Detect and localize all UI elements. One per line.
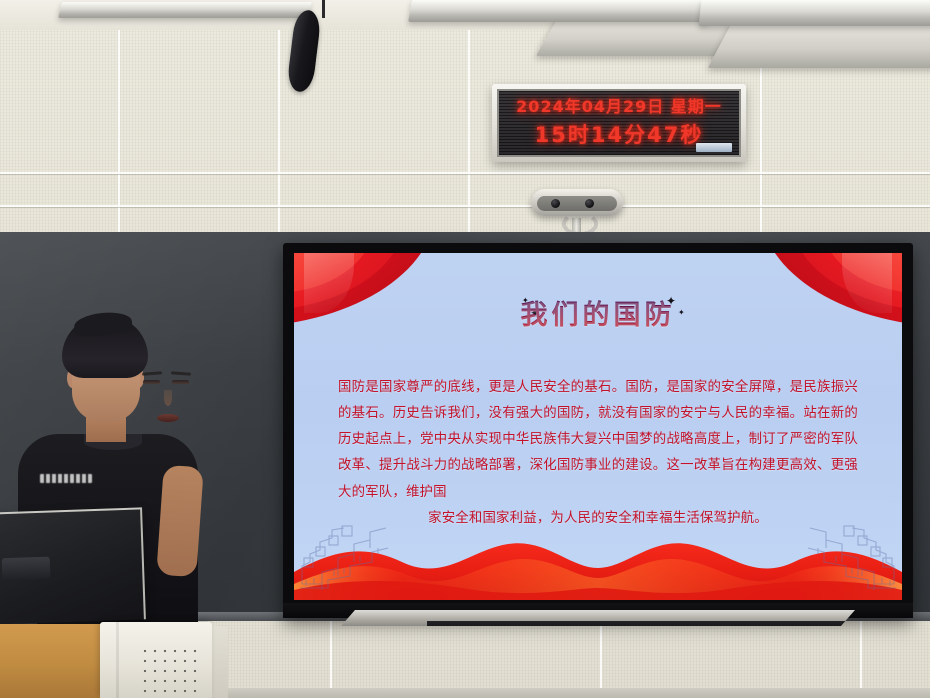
podium-edge-seam: [116, 622, 119, 698]
presenter-eye: [143, 380, 160, 384]
ceiling-light-fixture: [58, 2, 312, 18]
clock-brand-label: [696, 143, 732, 152]
tshirt-chest-logo: [40, 474, 92, 483]
slide-body-main: 国防是国家尊严的底线，更是人民安全的基石。国防，是国家的安全屏障，是民族振兴的基…: [338, 380, 858, 500]
led-clock-panel: 2024年04月29日 星期一 15时14分47秒: [497, 89, 741, 157]
presenter-eyebrow: [171, 371, 191, 375]
great-wall-line-art-left: [298, 514, 390, 592]
slide-screen[interactable]: ✦ ✦ ✦ ✦ 我们的国防 国防是国家尊严的底线，更是人民安全的基石。国防，是国…: [294, 253, 902, 600]
great-wall-line-art-right: [806, 514, 898, 592]
speaker-grille: [140, 646, 198, 696]
dual-lens-camera: [531, 189, 623, 216]
wooden-desk-panel: [0, 624, 108, 698]
wall-tile-seam: [0, 172, 930, 174]
presenter-eye: [172, 380, 189, 384]
led-clock-display: 2024年04月29日 星期一 15时14分47秒: [492, 84, 746, 162]
slide-title: 我们的国防: [294, 293, 902, 332]
ceiling-light-fixture: [699, 0, 930, 26]
camera-face-panel: [537, 196, 617, 211]
desktop-monitor-rear: [0, 507, 146, 624]
wall-tile-seam: [330, 620, 332, 698]
wall-tile-seam: [0, 205, 930, 207]
lectern-podium: [100, 622, 212, 698]
presenter-nose: [164, 390, 172, 406]
monitor-hinge: [2, 557, 51, 581]
display-control-strip[interactable]: [341, 610, 855, 626]
ceiling-light-fixture: [708, 22, 930, 68]
wall-tile-seam: [860, 620, 862, 698]
ceiling-light-fixture: [408, 0, 712, 22]
camera-lens-icon: [551, 199, 560, 208]
presenter-eyebrow: [142, 371, 162, 375]
classroom-scene: 2024年04月29日 星期一 15时14分47秒 ✦ ✦ ✦ ✦: [0, 0, 930, 698]
wall-tile-seam: [600, 620, 602, 698]
presenter-mouth: [157, 414, 179, 422]
interactive-flat-panel[interactable]: ✦ ✦ ✦ ✦ 我们的国防 国防是国家尊严的底线，更是人民安全的基石。国防，是国…: [283, 243, 913, 618]
microphone-cable: [322, 0, 325, 18]
clock-date-text: 2024年04月29日 星期一: [499, 93, 739, 117]
camera-lens-icon: [585, 199, 594, 208]
presenter-arm: [156, 465, 204, 578]
